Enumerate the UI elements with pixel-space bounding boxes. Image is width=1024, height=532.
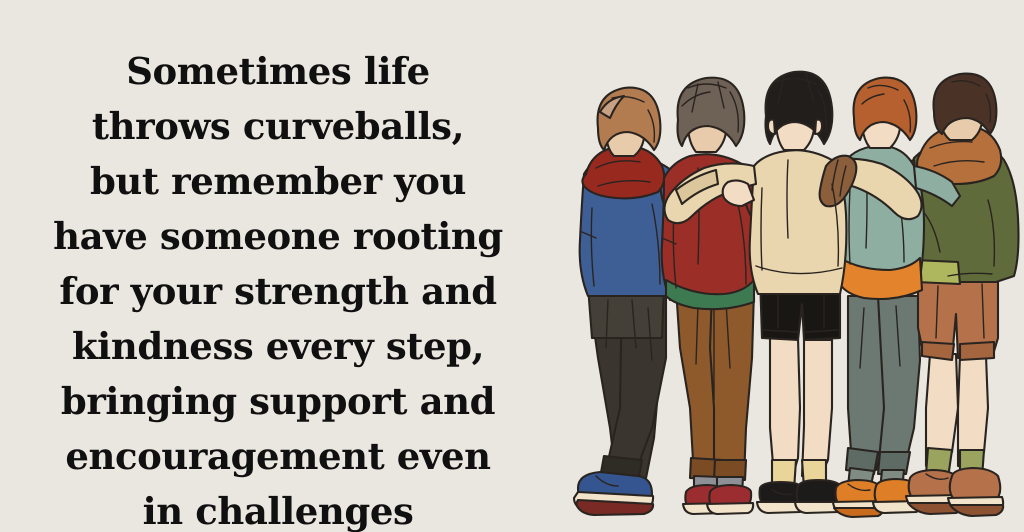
quote-graphic-canvas: Sometimes life throws curveballs, but re… [0, 0, 1024, 532]
quote-line: have someone rooting [0, 209, 556, 264]
quote-line: encouragement even [0, 429, 556, 484]
quote-line: kindness every step, [0, 319, 556, 374]
five-friends-group-hug-illustration: .ol { stroke:#2A2420; stroke-width:2.1; … [548, 8, 1024, 532]
quote-line: bringing support and [0, 374, 556, 429]
quote-line: but remember you [0, 154, 556, 209]
quote-line: Sometimes life [0, 44, 556, 99]
quote-text-block: Sometimes life throws curveballs, but re… [0, 44, 556, 532]
quote-line: for your strength and [0, 264, 556, 319]
quote-line: throws curveballs, [0, 99, 556, 154]
quote-line: in challenges [0, 484, 556, 532]
